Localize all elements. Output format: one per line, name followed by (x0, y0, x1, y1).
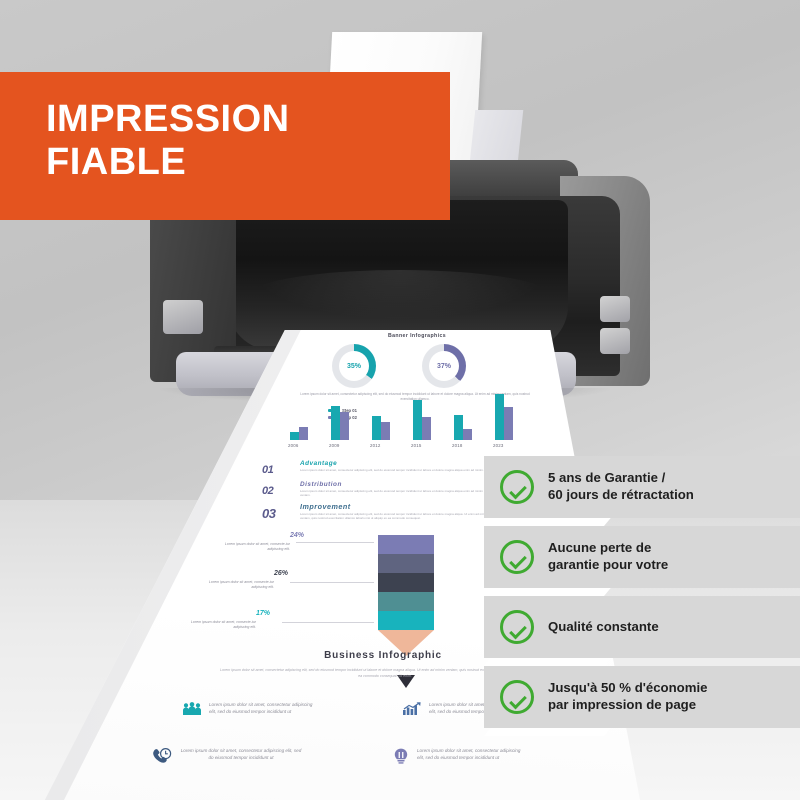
bar-axis-label: 2023 (493, 443, 504, 448)
pencil-funnel-chart (378, 535, 434, 656)
bar-chart: 200620092012201520182023 (286, 392, 536, 440)
step-body-01: Lorem ipsum dolor sit amet, consectetur … (300, 468, 490, 472)
bar-axis-label: 2012 (370, 443, 381, 448)
benefit-label-2: Aucune perte de garantie pour votre (548, 540, 668, 574)
funnel-text-1: Lorem ipsum dolor sit amet, consecte-tur… (208, 542, 290, 553)
feature-text-4: Lorem ipsum dolor sit amet, consectetur … (417, 748, 525, 762)
business-section-title: Business Infographic (258, 650, 508, 661)
donut-chart-2: 37% (422, 344, 466, 388)
donut-chart-1: 35% (332, 344, 376, 388)
headline-banner: IMPRESSION FIABLE (0, 72, 450, 220)
bar-group (413, 392, 431, 440)
donut-chart-1-value: 35% (332, 344, 376, 388)
printout-header-title: Banner Infographics (352, 333, 482, 339)
bar-group (331, 392, 349, 440)
benefit-label-3: Qualité constante (548, 619, 659, 636)
check-circle-icon (500, 540, 534, 574)
funnel-segment-3 (378, 573, 434, 592)
funnel-text-3: Lorem ipsum dolor sit amet, consecte-tur… (174, 620, 256, 631)
growth-chart-icon (402, 702, 422, 721)
funnel-leader-line-1 (296, 542, 374, 543)
bar-step-01 (495, 394, 504, 440)
step-number-01: 01 (262, 464, 273, 476)
bar-step-02 (299, 427, 308, 440)
bar-axis-label: 2006 (288, 443, 299, 448)
benefit-item-2[interactable]: Aucune perte de garantie pour votre (484, 526, 800, 588)
feature-text-3: Lorem ipsum dolor sit amet, consectetur … (179, 748, 303, 762)
funnel-segment-4 (378, 592, 434, 611)
phone-clock-icon (152, 748, 172, 769)
funnel-pct-3: 17% (256, 610, 270, 617)
bar-step-02 (422, 417, 431, 440)
step-body-02: Lorem ipsum dolor sit amet, consectetur … (300, 489, 490, 498)
printer-button-left[interactable] (163, 300, 203, 334)
funnel-segment-2 (378, 554, 434, 573)
bar-axis-label: 2009 (329, 443, 340, 448)
step-title-02: Distribution (300, 481, 342, 488)
bar-axis-label: 2015 (411, 443, 422, 448)
bar-step-01 (413, 400, 422, 440)
step-item-03: 03 Improvement Lorem ipsum dolor sit ame… (262, 502, 502, 532)
bar-step-02 (381, 422, 390, 440)
step-item-02: 02 Distribution Lorem ipsum dolor sit am… (262, 481, 502, 502)
bar-axis-label: 2018 (452, 443, 463, 448)
bar-step-02 (504, 407, 513, 440)
check-circle-icon (500, 680, 534, 714)
poster-canvas: Banner Infographics 35% 37% Lorem ipsum … (0, 0, 800, 800)
bar-step-01 (290, 432, 299, 440)
feature-text-1: Lorem ipsum dolor sit amet, consectetur … (209, 702, 317, 716)
bar-step-01 (372, 416, 381, 440)
funnel-leader-line-3 (282, 622, 374, 623)
bar-group (454, 392, 472, 440)
benefit-item-4[interactable]: Jusqu'à 50 % d'économie par impression d… (484, 666, 800, 728)
funnel-leader-line-2 (290, 582, 374, 583)
benefit-item-1[interactable]: 5 ans de Garantie / 60 jours de rétracta… (484, 456, 800, 518)
bar-group (372, 392, 390, 440)
feature-item-1: Lorem ipsum dolor sit amet, consectetur … (182, 702, 317, 721)
bar-step-01 (454, 415, 463, 440)
benefit-item-3[interactable]: Qualité constante (484, 596, 800, 658)
printer-button-right-top[interactable] (600, 296, 630, 322)
funnel-text-2: Lorem ipsum dolor sit amet, consecte-tur… (192, 580, 274, 591)
step-title-03: Improvement (300, 502, 351, 511)
headline-title: IMPRESSION FIABLE (46, 98, 450, 183)
bar-step-01 (331, 406, 340, 440)
feature-item-3: Lorem ipsum dolor sit amet, consectetur … (152, 748, 303, 769)
funnel-pct-2: 26% (274, 570, 288, 577)
step-item-01: 01 Advantage Lorem ipsum dolor sit amet,… (262, 460, 502, 481)
printer-drum-highlight (250, 270, 550, 320)
check-circle-icon (500, 470, 534, 504)
funnel-segment-5 (378, 611, 434, 630)
bar-group (495, 392, 513, 440)
check-circle-icon (500, 610, 534, 644)
lightbulb-icon (392, 748, 410, 769)
benefit-label-1: 5 ans de Garantie / 60 jours de rétracta… (548, 470, 694, 504)
benefits-list: 5 ans de Garantie / 60 jours de rétracta… (484, 456, 800, 736)
donut-chart-2-value: 37% (422, 344, 466, 388)
step-number-03: 03 (262, 506, 275, 521)
bar-group (290, 392, 308, 440)
step-body-03: Lorem ipsum dolor sit amet, consectetur … (300, 512, 490, 521)
step-title-01: Advantage (300, 460, 337, 467)
numbered-steps-list: 01 Advantage Lorem ipsum dolor sit amet,… (262, 460, 502, 532)
people-group-icon (182, 702, 202, 721)
step-number-02: 02 (262, 485, 273, 497)
feature-item-4: Lorem ipsum dolor sit amet, consectetur … (392, 748, 525, 769)
funnel-pct-1: 24% (290, 532, 304, 539)
bar-step-02 (463, 429, 472, 440)
benefit-label-4: Jusqu'à 50 % d'économie par impression d… (548, 680, 707, 714)
funnel-segment-1 (378, 535, 434, 554)
bar-step-02 (340, 412, 349, 440)
